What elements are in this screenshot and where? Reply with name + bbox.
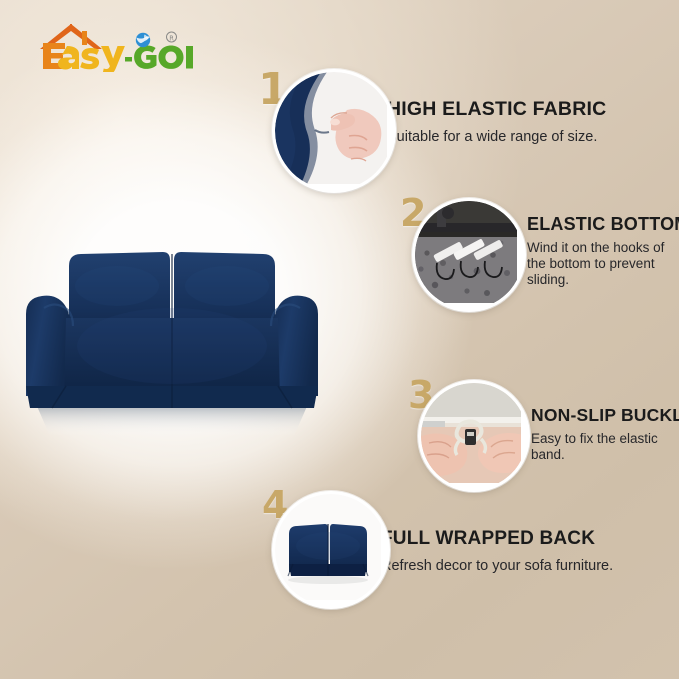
hands-buckle-photo bbox=[421, 383, 521, 483]
feature-2-description: Wind it on the hooks of the bottom to pr… bbox=[527, 240, 679, 288]
feature-3-text: NON-SLIP BUCKLE Easy to fix the elastic … bbox=[531, 405, 679, 463]
feature-2-title: ELASTIC BOTTOM bbox=[527, 214, 679, 235]
registered-mark-icon: R bbox=[167, 32, 177, 42]
sofa-underside-hooks-photo bbox=[415, 201, 517, 303]
sofa-arm-right bbox=[274, 296, 318, 396]
sofa-arm-left bbox=[26, 296, 70, 396]
feature-4-description: Refresh decor to your sofa furniture. bbox=[381, 558, 613, 574]
feature-2-image-circle bbox=[412, 198, 526, 312]
feature-4-text: FULL WRAPPED BACK Refresh decor to your … bbox=[381, 528, 613, 574]
feature-1-description: Suitable for a wide range of size. bbox=[387, 129, 606, 145]
feature-1-image-circle bbox=[272, 69, 396, 193]
hand-stretching-fabric-photo bbox=[275, 72, 387, 184]
infographic-canvas: R bbox=[0, 0, 679, 679]
feature-3-image-circle bbox=[418, 380, 530, 492]
logo-text-going bbox=[126, 46, 193, 69]
sofa-svg bbox=[22, 236, 322, 446]
feature-2: 2 bbox=[396, 192, 679, 327]
globe-icon bbox=[136, 33, 150, 47]
brand-logo-svg: R bbox=[30, 16, 200, 72]
product-sofa-image bbox=[22, 236, 322, 446]
feature-4-title: FULL WRAPPED BACK bbox=[381, 528, 613, 550]
feature-4: 4 bbox=[248, 482, 668, 612]
feature-1-title: HIGH ELASTIC FABRIC bbox=[387, 98, 606, 121]
sofa-back-view-photo bbox=[275, 494, 381, 600]
brand-logo: R bbox=[30, 16, 200, 72]
logo-text-easy-highlight bbox=[58, 46, 125, 72]
feature-4-image-circle bbox=[272, 491, 390, 609]
feature-1-text: HIGH ELASTIC FABRIC Suitable for a wide … bbox=[387, 98, 606, 145]
feature-1: 1 bbox=[252, 62, 672, 202]
feature-3-title: NON-SLIP BUCKLE bbox=[531, 405, 679, 426]
svg-text:R: R bbox=[169, 34, 174, 42]
feature-3-description: Easy to fix the elastic band. bbox=[531, 431, 679, 463]
logo-hyphen bbox=[125, 57, 132, 62]
sofa-reflection bbox=[36, 404, 308, 436]
feature-2-text: ELASTIC BOTTOM Wind it on the hooks of t… bbox=[527, 214, 679, 288]
